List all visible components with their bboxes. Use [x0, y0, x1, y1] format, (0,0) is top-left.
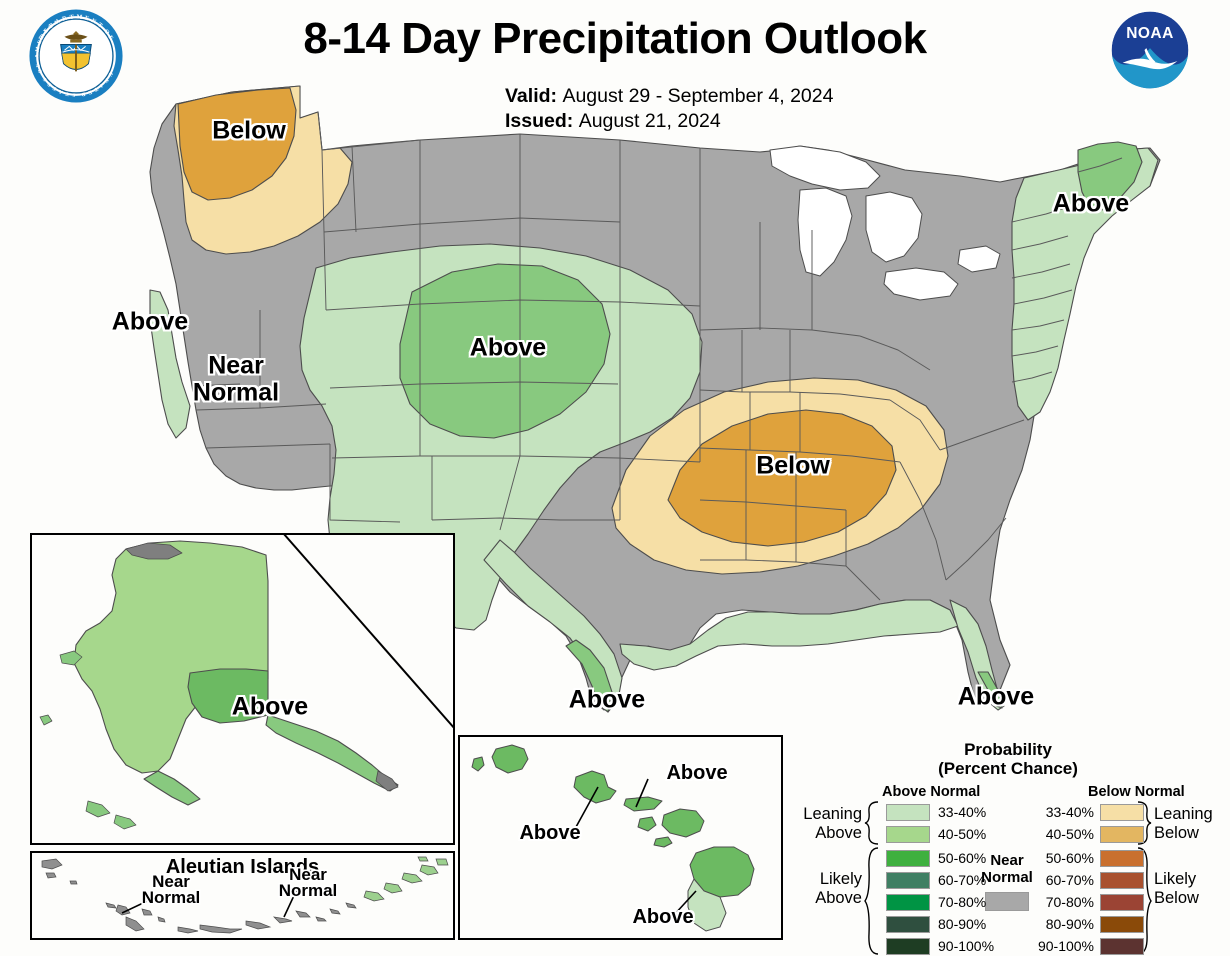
lanai [638, 817, 656, 831]
legend-swatch-above-40-50% [886, 826, 930, 843]
legend-swatch-above-50-60% [886, 850, 930, 867]
alaska-above-33-40 [74, 541, 268, 773]
legend-swatch-below-60-70% [1100, 872, 1144, 889]
alaska-above-40-50 [188, 669, 268, 723]
legend-pct-above-80-90%: 80-90% [938, 916, 986, 933]
legend-swatch-below-70-80% [1100, 894, 1144, 911]
legend-below-normal-head: Below Normal [1088, 784, 1185, 800]
legend-swatch-above-70-80% [886, 894, 930, 911]
legend-pct-below-50-60%: 50-60% [1022, 850, 1094, 867]
legend-pct-above-70-80%: 70-80% [938, 894, 986, 911]
legend-likely-below-label: Likely Below [1154, 870, 1230, 908]
legend-pct-above-90-100%: 90-100% [938, 938, 994, 955]
legend-swatch-below-50-60% [1100, 850, 1144, 867]
legend-pct-below-60-70%: 60-70% [1022, 872, 1094, 889]
legend-pct-above-50-60%: 50-60% [938, 850, 986, 867]
legend-title-line1: Probability [786, 740, 1230, 759]
alaska-map [30, 533, 455, 845]
legend-title: Probability (Percent Chance) [786, 740, 1230, 778]
legend-swatch-above-80-90% [886, 916, 930, 933]
oahu [574, 771, 616, 803]
legend-pct-below-33-40%: 33-40% [1022, 804, 1094, 821]
legend-pct-below-90-100%: 90-100% [1022, 938, 1094, 955]
molokai [624, 797, 662, 811]
legend-pct-below-40-50%: 40-50% [1022, 826, 1094, 843]
kauai [492, 745, 528, 773]
legend-swatch-above-60-70% [886, 872, 930, 889]
aleutian-islands-title: Aleutian Islands [30, 856, 455, 879]
legend-pct-above-60-70%: 60-70% [938, 872, 986, 889]
outlook-map-page: D E P A R T M E N T O F C U N I T E D S … [0, 0, 1230, 950]
brace-likely-above [864, 846, 880, 956]
legend-swatch-below-33-40% [1100, 804, 1144, 821]
maui [662, 809, 704, 837]
legend-pct-below-80-90%: 80-90% [1022, 916, 1094, 933]
niihau [472, 757, 484, 771]
kahoolawe [654, 837, 672, 847]
legend-pct-below-70-80%: 70-80% [1022, 894, 1094, 911]
legend-swatch-below-40-50% [1100, 826, 1144, 843]
legend-likely-above-label: Likely Above [786, 870, 862, 908]
legend-leaning-below-label: Leaning Below [1154, 805, 1230, 843]
legend-swatch-below-90-100% [1100, 938, 1144, 955]
legend-pct-above-40-50%: 40-50% [938, 826, 986, 843]
legend-title-line2: (Percent Chance) [786, 759, 1230, 778]
hawaii-map [458, 735, 783, 940]
legend-swatch-above-33-40% [886, 804, 930, 821]
probability-legend: Probability (Percent Chance) Above Norma… [786, 740, 1230, 945]
legend-pct-above-33-40%: 33-40% [938, 804, 986, 821]
legend-above-normal-head: Above Normal [882, 784, 980, 800]
alaska-peninsula [144, 771, 200, 805]
legend-swatch-above-90-100% [886, 938, 930, 955]
brace-leaning-above [864, 800, 880, 846]
legend-leaning-above-label: Leaning Above [786, 805, 862, 843]
legend-swatch-below-80-90% [1100, 916, 1144, 933]
